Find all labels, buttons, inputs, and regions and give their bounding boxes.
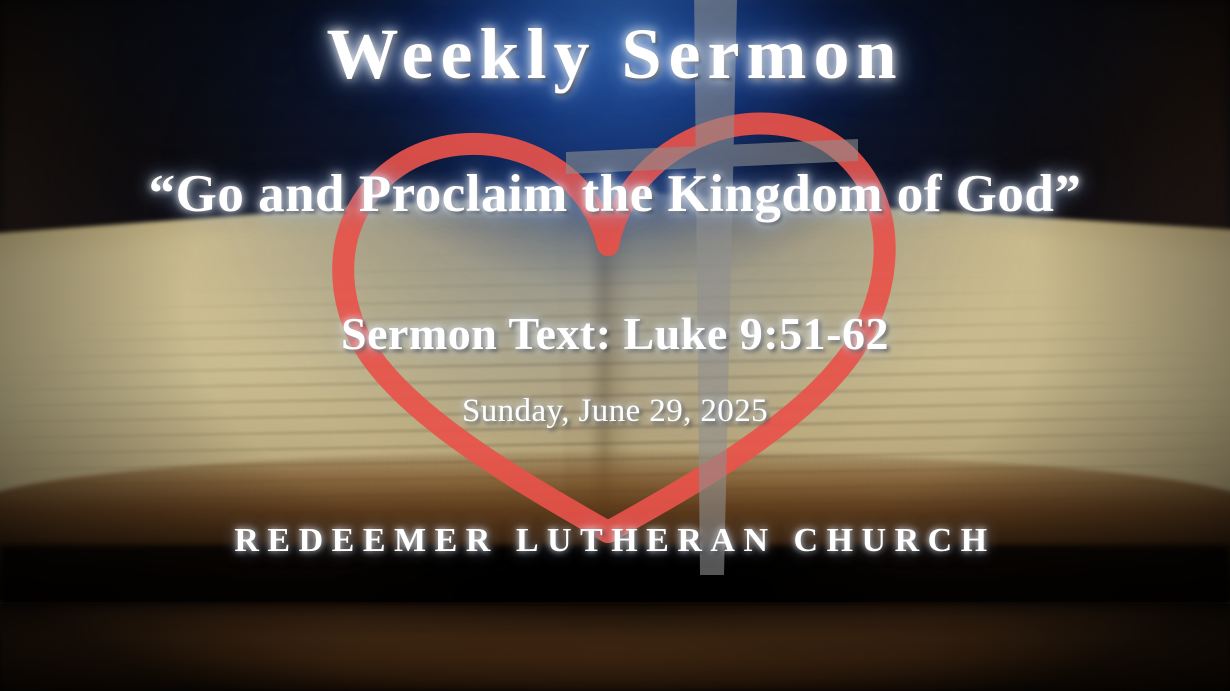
slide-title: Weekly Sermon	[0, 18, 1230, 90]
sermon-theme: “Go and Proclaim the Kingdom of God”	[0, 168, 1230, 221]
slide-text-content: Weekly Sermon “Go and Proclaim the Kingd…	[0, 0, 1230, 691]
church-name: REDEEMER LUTHERAN CHURCH	[0, 524, 1230, 558]
sermon-text-reference: Sermon Text: Luke 9:51-62	[0, 311, 1230, 357]
sermon-slide: Weekly Sermon “Go and Proclaim the Kingd…	[0, 0, 1230, 691]
sermon-date: Sunday, June 29, 2025	[0, 395, 1230, 428]
